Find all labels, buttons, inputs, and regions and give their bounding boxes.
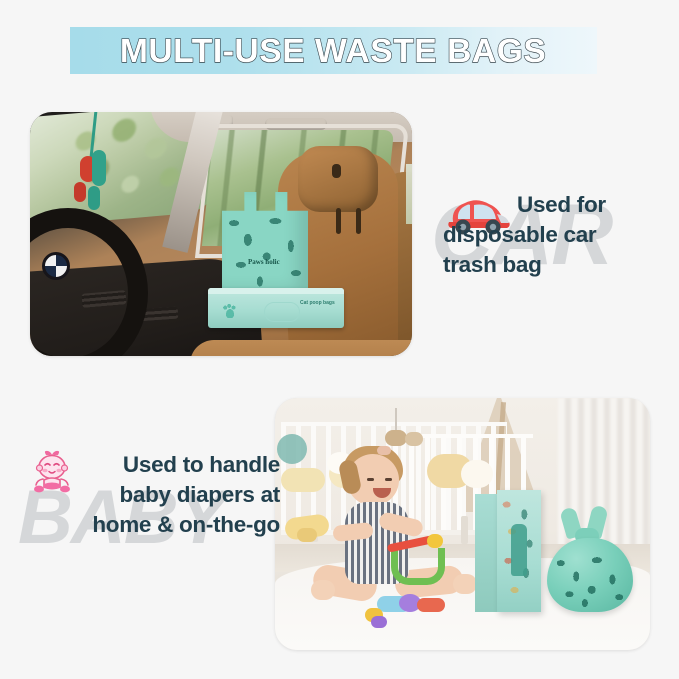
car-feature-callout: CAR Used for disposable car trash bag — [443, 186, 675, 280]
baby-eye-left — [367, 478, 374, 481]
product-box-side-panel — [475, 494, 499, 612]
hanging-charm-teal-small — [88, 186, 100, 210]
crib-mobile-ball-2 — [405, 432, 423, 446]
baby-nursery-photo — [275, 398, 650, 650]
baby-line-3: home & on-the-go — [14, 510, 280, 540]
title-banner: MULTI-USE WASTE BAGS — [70, 27, 597, 74]
rear-window — [406, 164, 412, 224]
baby-eye-right — [385, 478, 392, 481]
toy-yellow-bead — [427, 534, 443, 548]
floor-toy-violet — [371, 616, 387, 628]
box-bag-illustration — [511, 524, 527, 576]
floor-toy-red — [417, 598, 445, 612]
box-top-edge — [208, 288, 344, 294]
page-title: MULTI-USE WASTE BAGS — [120, 32, 547, 70]
hanging-charm-teal — [92, 150, 106, 186]
paw-print-icon — [222, 304, 238, 318]
box-cloud-graphic — [264, 302, 300, 322]
baby-feature-callout: BABY Used to handle baby diapers at home… — [14, 446, 280, 540]
baby-line-2: baby diapers at — [14, 480, 280, 510]
plush-toy-teal — [277, 434, 307, 464]
box-caption: Cat poop bags — [300, 300, 335, 306]
floor-cushion-small — [297, 528, 317, 542]
bag-brand-label: Paws holic — [248, 258, 280, 266]
bmw-logo-icon — [42, 252, 70, 280]
passenger-seat-cushion — [190, 340, 412, 356]
baby-foot-left — [311, 580, 335, 600]
product-box-in-car: Cat poop bags — [208, 288, 344, 328]
crib-mobile-string — [395, 408, 397, 432]
car-line-3: trash bag — [443, 250, 675, 280]
car-interior-photo: Paws holic Cat poop bags — [30, 112, 412, 356]
tied-mint-bag — [547, 538, 633, 612]
baby-hair-clip — [377, 446, 391, 455]
baby-line-1: Used to handle — [14, 450, 280, 480]
car-callout-text: Used for disposable car trash bag — [443, 186, 675, 280]
plush-pillow-yellow-1 — [281, 468, 325, 492]
toy-green-ring — [391, 548, 445, 585]
headrest-post-left — [336, 208, 341, 234]
headrest-button — [332, 164, 341, 178]
car-photo-scene: Paws holic Cat poop bags — [30, 112, 412, 356]
crib-mobile-ball-1 — [385, 430, 407, 446]
baby-foot-right — [453, 574, 477, 594]
hanging-charm-red-small — [74, 182, 86, 202]
product-box-in-nursery — [497, 490, 541, 612]
baby-photo-scene — [275, 398, 650, 650]
tied-bag-doodle-pattern — [547, 538, 633, 612]
car-line-2: disposable car — [443, 220, 675, 250]
crib-leg-right — [461, 516, 468, 544]
headrest — [298, 146, 378, 212]
infographic-root: MULTI-USE WASTE BAGS — [0, 0, 679, 679]
headrest-post-right — [356, 208, 361, 234]
baby-callout-text: Used to handle baby diapers at home & on… — [14, 446, 280, 540]
car-line-1: Used for — [443, 190, 675, 220]
plush-bear-head — [461, 460, 493, 488]
